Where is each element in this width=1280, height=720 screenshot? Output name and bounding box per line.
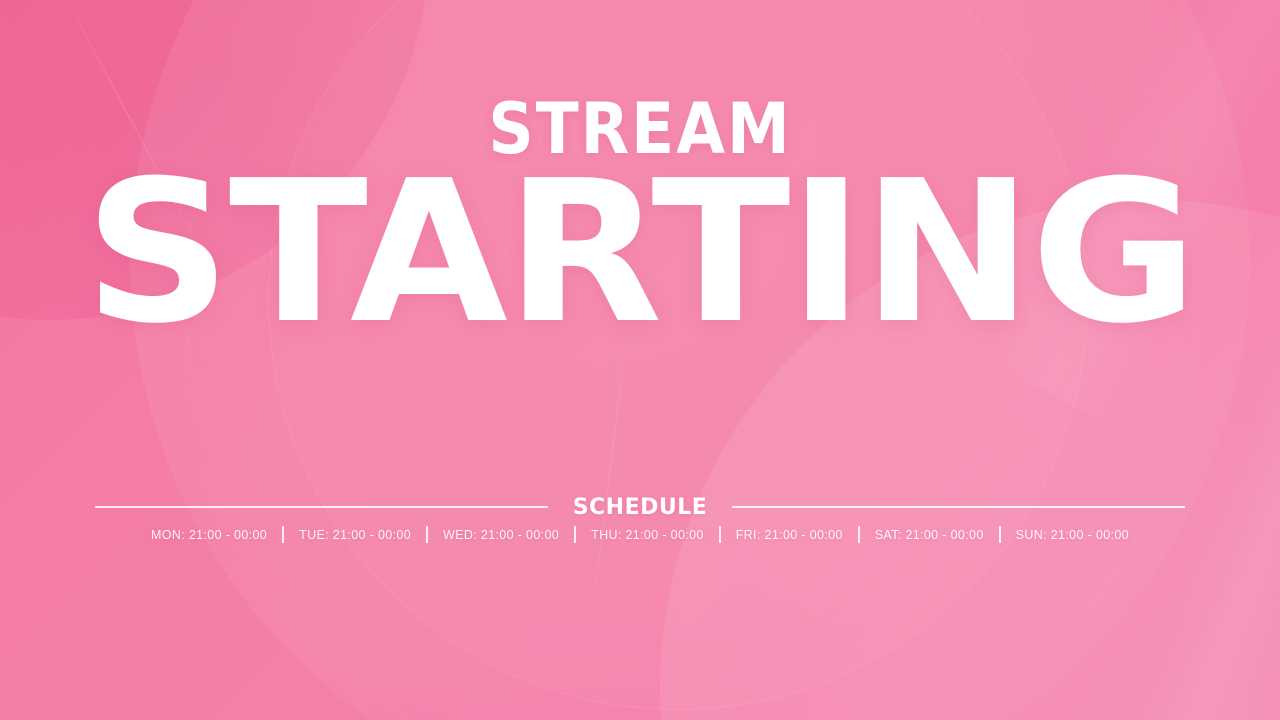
schedule-item-sat: SAT: 21:00 - 00:00: [860, 528, 999, 542]
schedule-item-sun: SUN: 21:00 - 00:00: [1001, 528, 1144, 542]
schedule-item-wed: WED: 21:00 - 00:00: [428, 528, 574, 542]
title-line-starting: STARTING: [0, 169, 1280, 338]
schedule-item-mon: MON: 21:00 - 00:00: [136, 528, 282, 542]
schedule-item-tue: TUE: 21:00 - 00:00: [284, 528, 426, 542]
schedule-header: SCHEDULE: [0, 494, 1280, 520]
schedule-item-thu: THU: 21:00 - 00:00: [576, 528, 719, 542]
schedule-divider-left: [95, 506, 548, 508]
schedule-label: SCHEDULE: [573, 495, 708, 520]
stream-starting-overlay: STREAM STARTING SCHEDULE MON: 21:00 - 00…: [0, 0, 1280, 720]
title-block: STREAM STARTING: [0, 96, 1280, 338]
schedule-divider-right: [732, 506, 1185, 508]
schedule-item-fri: FRI: 21:00 - 00:00: [721, 528, 858, 542]
schedule-list: MON: 21:00 - 00:00TUE: 21:00 - 00:00WED:…: [0, 526, 1280, 543]
